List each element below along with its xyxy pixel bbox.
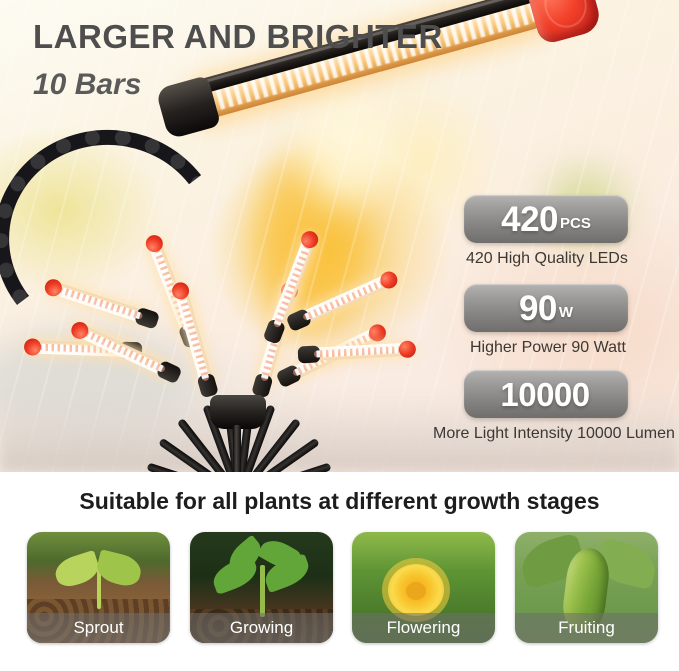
card-label: Sprout: [27, 613, 170, 643]
product-marketing-image: LARGER AND BRIGHTER 10 Bars 420 PCS 420 …: [0, 0, 679, 671]
section-title: Suitable for all plants at different gro…: [0, 488, 679, 515]
spec-caption-leds: 420 High Quality LEDs: [466, 250, 628, 268]
leaf: [94, 549, 144, 589]
bar-red-tip-icon: [24, 338, 42, 356]
badge-number: 420: [501, 202, 558, 237]
fan-led-bar: [47, 280, 150, 325]
fan-hub: [210, 395, 266, 429]
fan-led-bar: [308, 343, 413, 361]
bar-leds: [314, 346, 400, 357]
bar-red-tip-icon: [43, 277, 64, 298]
growth-stage-card-fruiting: Fruiting: [515, 532, 658, 643]
stem: [260, 565, 265, 617]
badge-unit: PCS: [560, 206, 591, 232]
card-label: Fruiting: [515, 613, 658, 643]
red-end-cap-icon: [523, 0, 603, 46]
card-label: Flowering: [352, 613, 495, 643]
page-subtitle: 10 Bars: [33, 68, 141, 102]
flower-center: [406, 582, 426, 600]
growth-stages-section: Suitable for all plants at different gro…: [0, 472, 679, 671]
fan-led-bar: [295, 272, 395, 326]
page-title: LARGER AND BRIGHTER: [33, 18, 443, 56]
badge-number: 90: [519, 291, 557, 326]
bar-red-tip-icon: [398, 340, 416, 358]
spec-caption-lumen: More Light Intensity 10000 Lumen: [433, 425, 675, 443]
badge-number: 10000: [500, 378, 589, 411]
support-pole: [233, 425, 241, 472]
growth-stage-card-flowering: Flowering: [352, 532, 495, 643]
bar-red-tip-icon: [378, 269, 400, 291]
hero-section: LARGER AND BRIGHTER 10 Bars 420 PCS 420 …: [0, 0, 679, 472]
ten-bar-led-array-icon: [30, 240, 460, 455]
spec-badge-power: 90 W: [464, 284, 628, 332]
spec-caption-power: Higher Power 90 Watt: [470, 339, 626, 357]
bar-leds: [302, 280, 383, 321]
spec-badge-leds: 420 PCS: [464, 195, 628, 243]
growth-stage-card-growing: Growing: [190, 532, 333, 643]
badge-unit: W: [559, 295, 573, 321]
growth-stage-card-sprout: Sprout: [27, 532, 170, 643]
bar-red-tip-icon: [366, 322, 389, 345]
card-label: Growing: [190, 613, 333, 643]
leaf: [52, 550, 102, 590]
bar-leds: [59, 287, 143, 320]
spec-badge-lumen: 10000: [464, 370, 628, 418]
